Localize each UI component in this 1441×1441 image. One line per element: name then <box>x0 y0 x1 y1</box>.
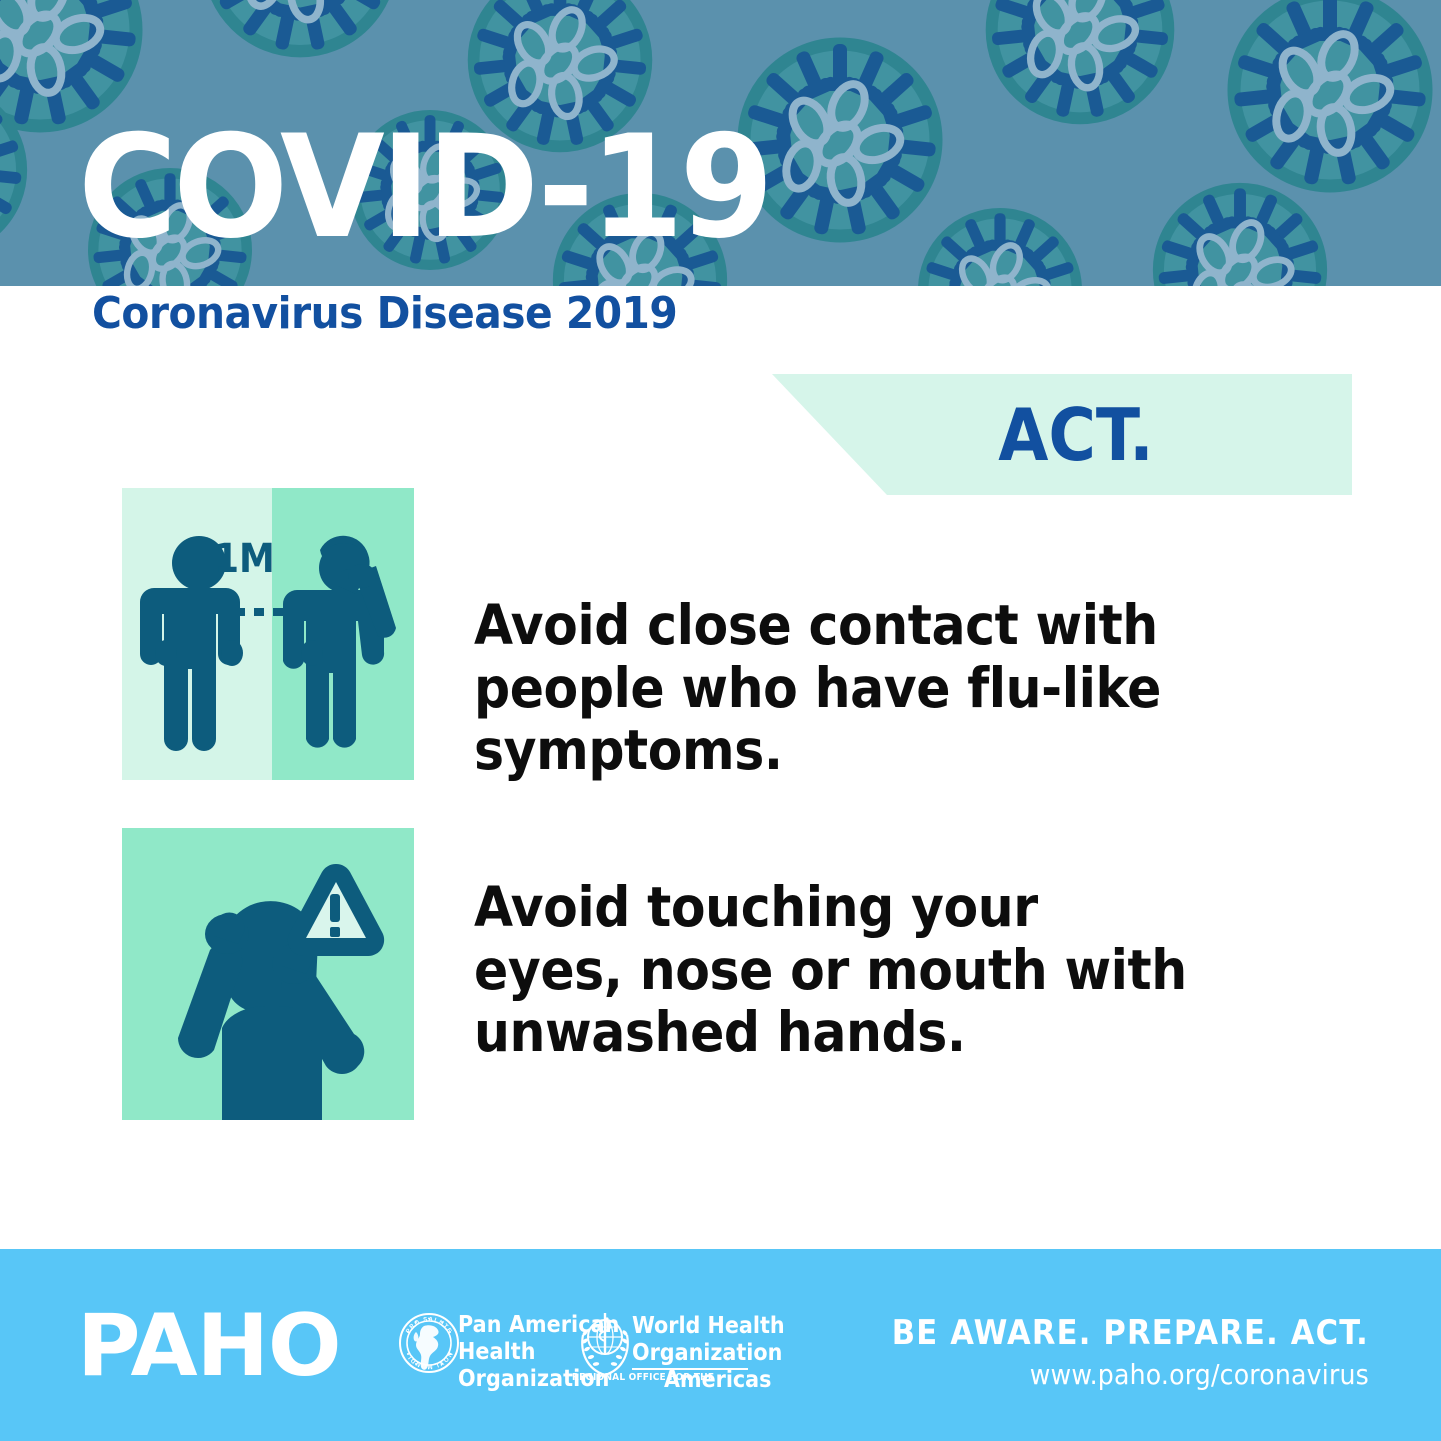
act-banner-label: ACT. <box>772 374 1352 495</box>
who-name-line-1: World Health <box>632 1313 785 1340</box>
avoid-face-touching-icon <box>122 828 414 1120</box>
footer-tagline: BE AWARE. PREPARE. ACT. <box>892 1313 1369 1353</box>
paho-wordmark: PAHO <box>77 1303 340 1389</box>
paho-seal-icon: PRO SALUTE NOVI MUNDI <box>398 1312 460 1374</box>
distance-label: 1M <box>214 536 275 582</box>
covid-poster: COVID-19 Coronavirus Disease 2019 ACT. <box>0 0 1441 1441</box>
header-banner: COVID-19 <box>0 0 1441 286</box>
who-organization-name: World Health Organization <box>632 1313 785 1367</box>
act-banner: ACT. <box>772 374 1352 495</box>
social-distance-icon: 1M <box>122 488 414 780</box>
who-region-name: Americas <box>664 1367 771 1393</box>
who-emblem-icon <box>578 1307 632 1379</box>
who-name-line-2: Organization <box>632 1340 785 1367</box>
footer-url[interactable]: www.paho.org/coronavirus <box>1030 1358 1369 1391</box>
message-text-2: Avoid touching your eyes, nose or mouth … <box>474 876 1188 1064</box>
poster-title: COVID-19 <box>78 130 770 246</box>
message-text-1: Avoid close contact with people who have… <box>474 594 1290 782</box>
poster-title-wrap: COVID-19 <box>78 130 730 246</box>
poster-subtitle: Coronavirus Disease 2019 <box>92 288 677 339</box>
